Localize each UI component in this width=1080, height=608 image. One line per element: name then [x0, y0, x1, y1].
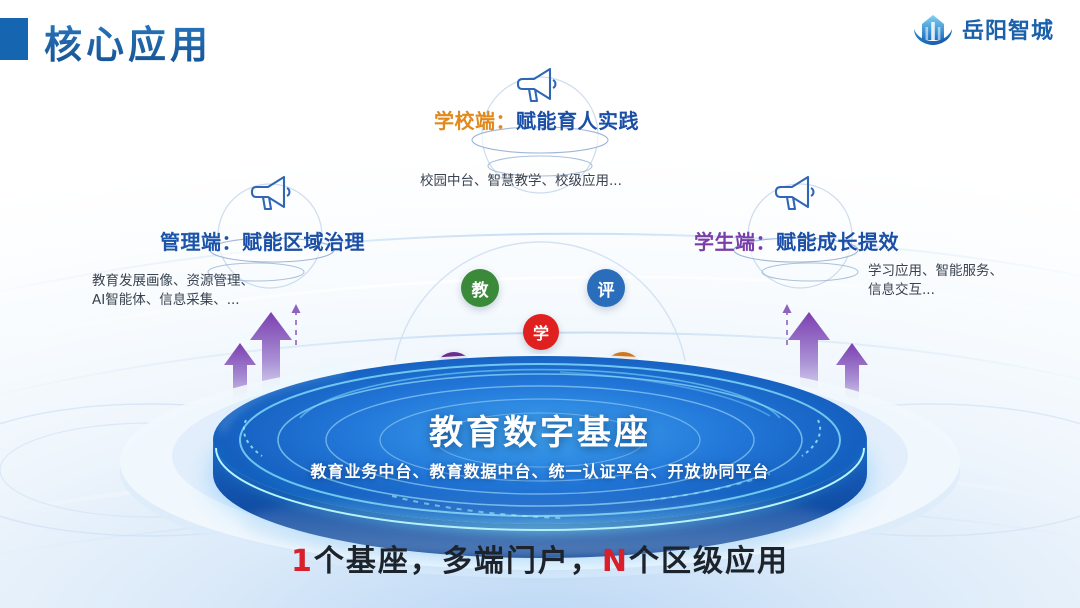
tagline-number-n: N [602, 544, 629, 579]
platform-subtitle: 教育业务中台、教育数据中台、统一认证平台、开放协同平台 [0, 458, 1080, 482]
tagline-text-1: 个基座， [314, 544, 442, 579]
platform-title: 教育数字基座 [0, 405, 1080, 454]
tagline-number-1: 1 [291, 544, 314, 579]
slide-canvas: 核心应用 岳阳智城 [0, 0, 1080, 608]
tagline-text-2: 多端门户， [442, 544, 602, 579]
platform-disc [0, 0, 1080, 608]
tagline-text-3: 个区级应用 [629, 544, 789, 579]
bottom-tagline: 1个基座，多端门户，N个区级应用 [0, 536, 1080, 580]
